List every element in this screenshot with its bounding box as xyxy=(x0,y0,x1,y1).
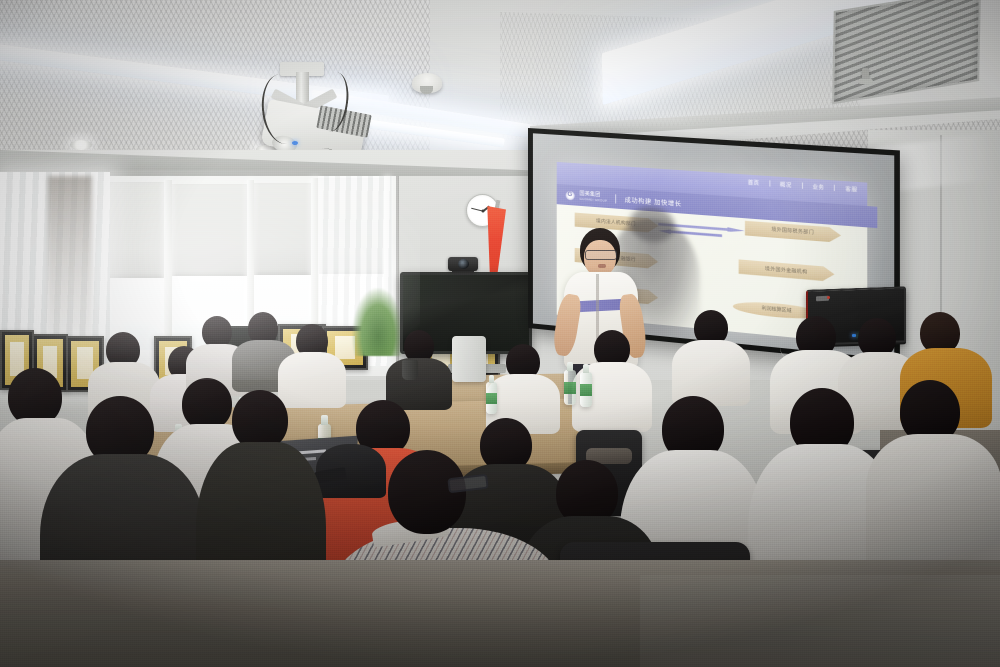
attendee-body xyxy=(672,340,750,406)
diagram-node: 境外国外金融机构 xyxy=(739,259,835,282)
slide-nav-item-2[interactable]: 业务 xyxy=(812,183,824,191)
laptop-logo-dot xyxy=(827,296,830,299)
window-mullion xyxy=(164,180,172,352)
nav-separator xyxy=(834,185,835,191)
roller-blind[interactable] xyxy=(253,183,313,275)
presenter-glasses-icon xyxy=(585,250,617,260)
company-logo-icon: G xyxy=(565,190,574,200)
recessed-downlight xyxy=(70,140,92,150)
presenter-mouth xyxy=(598,264,606,268)
attendee-head xyxy=(232,390,288,450)
water-bottle[interactable] xyxy=(564,370,576,405)
attendee-body xyxy=(386,358,452,410)
diagram-node: 境外国际税务部门 xyxy=(745,221,841,243)
curtain-shadow xyxy=(48,176,92,356)
floor-right xyxy=(640,575,1000,667)
attendee-body xyxy=(278,352,346,408)
nav-separator xyxy=(769,180,770,186)
water-bottle[interactable] xyxy=(486,382,497,414)
slide-header-title: 成功构建 加快增长 xyxy=(625,195,682,208)
attendee-body xyxy=(866,434,1000,574)
smoke-detector-icon xyxy=(412,73,442,93)
roller-blind[interactable] xyxy=(170,184,248,276)
sprinkler-head-icon xyxy=(862,68,869,82)
water-dispenser xyxy=(452,336,486,382)
logo-subtext: GUOMEI GROUP xyxy=(579,197,607,203)
potted-plant xyxy=(352,288,404,356)
slide-nav-item-3[interactable]: 客服 xyxy=(845,185,857,193)
conference-room-photo: 首页 概况 业务 客服 G 国美集团 GUOMEI GROUP xyxy=(0,0,1000,667)
slide-nav-item-1[interactable]: 概况 xyxy=(780,181,792,189)
projector-power-led xyxy=(292,141,298,145)
paper-cup[interactable] xyxy=(402,360,418,380)
slide-nav: 首页 概况 业务 客服 xyxy=(748,178,858,193)
header-divider xyxy=(616,194,617,203)
clock-center xyxy=(481,209,484,212)
camera-lens-icon xyxy=(458,259,469,269)
water-bottle[interactable] xyxy=(580,372,592,407)
laptop-status-led xyxy=(852,334,856,337)
slide-nav-item-0[interactable]: 首页 xyxy=(748,178,760,186)
attendee-head xyxy=(182,378,232,430)
nav-separator xyxy=(802,183,803,189)
